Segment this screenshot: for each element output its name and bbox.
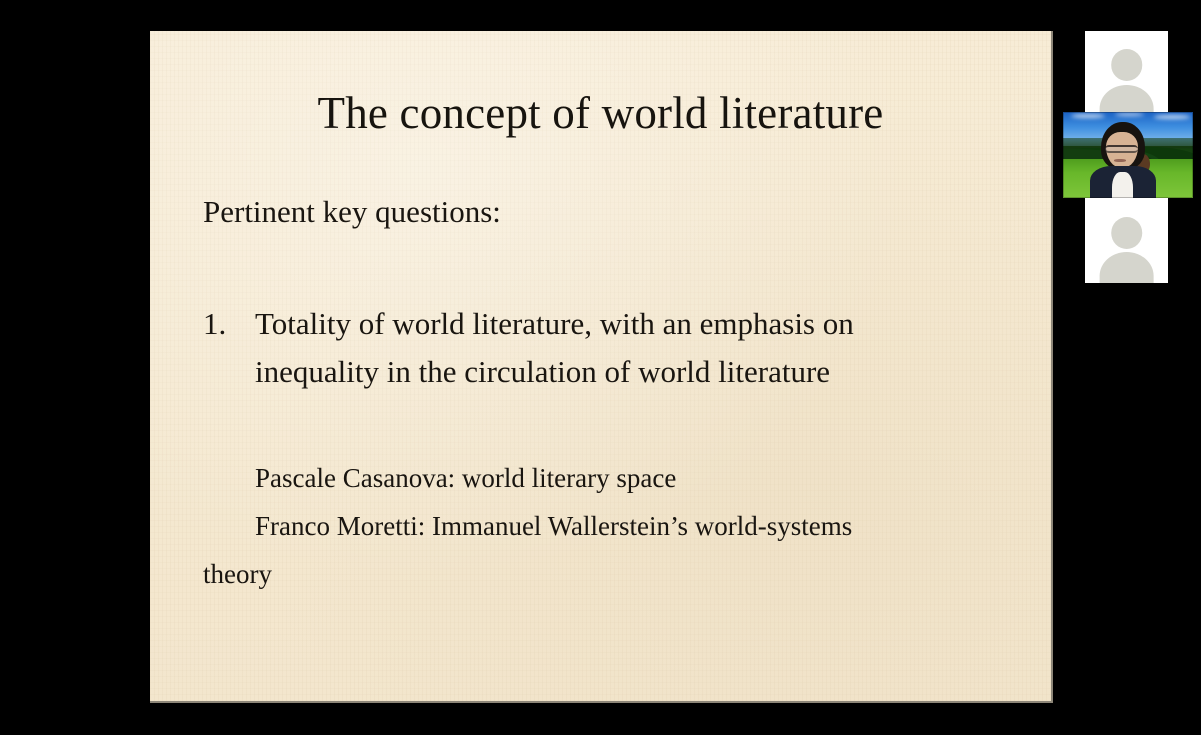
person-collar (1112, 172, 1133, 198)
slide-lead-line: Pertinent key questions: (203, 193, 1011, 230)
list-item-text: Totality of world literature, with an em… (255, 300, 955, 396)
sub-line-casanova: Pascale Casanova: world literary space (203, 454, 1011, 502)
sub-line-moretti: Franco Moretti: Immanuel Wallerstein’s w… (203, 502, 1011, 550)
sub-line-moretti-continuation: theory (203, 550, 1011, 598)
cloud-icon (1071, 114, 1105, 118)
glasses-icon (1105, 145, 1138, 153)
video-person (1097, 122, 1149, 198)
participant-tile-3[interactable] (1085, 198, 1168, 283)
participant-tile-2[interactable] (1063, 112, 1193, 198)
participant-tile-1[interactable] (1085, 31, 1168, 115)
avatar-head-icon (1111, 217, 1143, 249)
cloud-icon (1115, 113, 1144, 116)
meeting-screen-share-view: The concept of world literature Pertinen… (0, 0, 1201, 735)
shared-slide[interactable]: The concept of world literature Pertinen… (150, 31, 1053, 703)
avatar-body-icon (1099, 252, 1154, 283)
cloud-icon (1154, 115, 1190, 119)
list-item: 1. Totality of world literature, with an… (203, 300, 1011, 396)
slide-title: The concept of world literature (150, 89, 1051, 139)
slide-numbered-list: 1. Totality of world literature, with an… (203, 300, 1011, 396)
avatar-body-icon (1099, 85, 1154, 115)
slide-body: Pertinent key questions: 1. Totality of … (203, 193, 1011, 598)
avatar-head-icon (1111, 49, 1143, 81)
slide-sub-lines: Pascale Casanova: world literary space F… (203, 454, 1011, 598)
list-item-marker: 1. (203, 300, 255, 348)
